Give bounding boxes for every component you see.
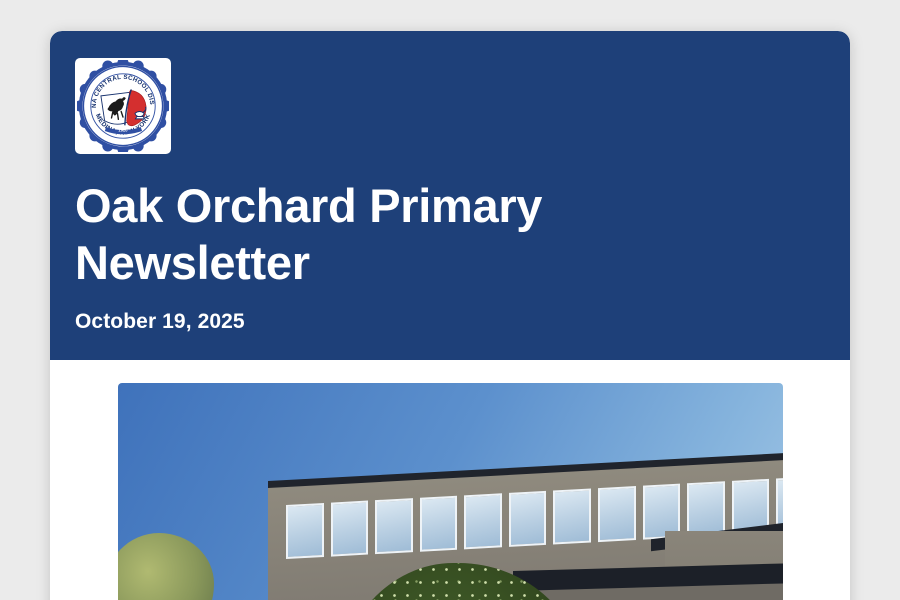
window-pane — [598, 486, 636, 542]
window-pane — [464, 493, 502, 549]
foreground-tree — [336, 563, 586, 600]
newsletter-card: MEDINA CENTRAL SCHOOL DISTRICT MEDINA, N… — [50, 31, 850, 600]
window-pane — [331, 500, 369, 556]
distant-tree — [118, 533, 214, 600]
district-logo: MEDINA CENTRAL SCHOOL DISTRICT MEDINA, N… — [75, 58, 171, 154]
medina-central-school-district-seal-icon: MEDINA CENTRAL SCHOOL DISTRICT MEDINA, N… — [77, 60, 169, 152]
tree-foliage-speckle — [336, 563, 586, 600]
newsletter-body — [50, 360, 850, 600]
window-pane — [687, 481, 725, 537]
page-root: MEDINA CENTRAL SCHOOL DISTRICT MEDINA, N… — [0, 0, 900, 600]
newsletter-date: October 19, 2025 — [75, 310, 824, 334]
svg-text:1920: 1920 — [118, 127, 128, 132]
window-pane — [553, 488, 591, 544]
window-pane — [286, 503, 324, 559]
window-pane — [509, 491, 547, 547]
window-pane — [420, 495, 458, 551]
page-title: Oak Orchard Primary Newsletter — [75, 178, 675, 292]
window-pane — [375, 498, 413, 554]
school-building-photo — [118, 383, 783, 600]
newsletter-header: MEDINA CENTRAL SCHOOL DISTRICT MEDINA, N… — [50, 31, 850, 360]
